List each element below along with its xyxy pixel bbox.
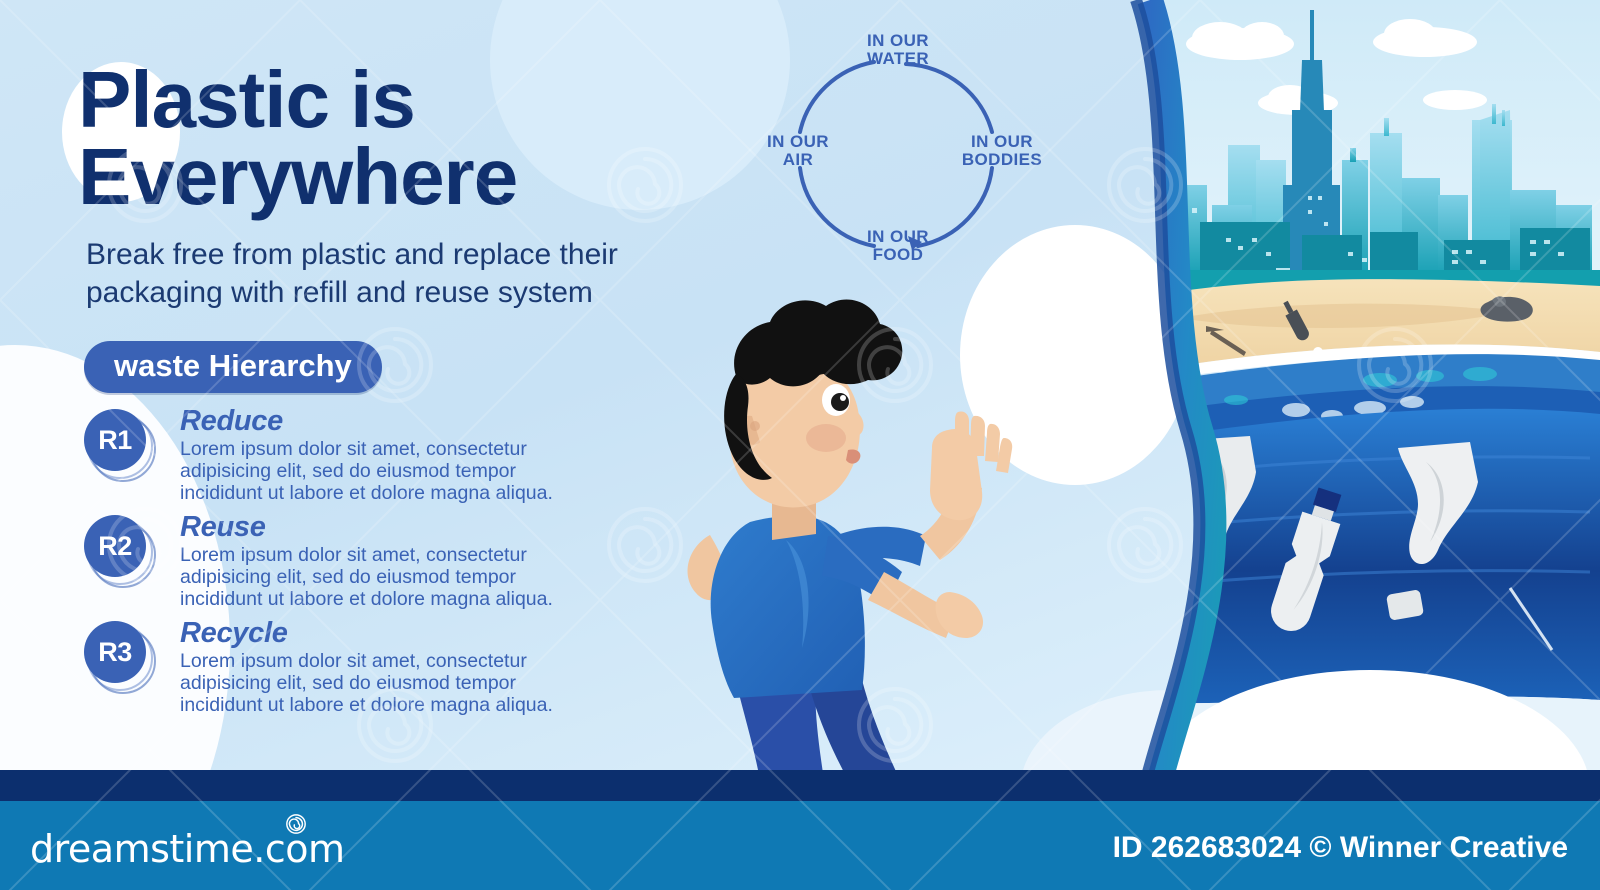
stock-site-footer: dreamstime.com ID 262683024 © Winner Cre… xyxy=(0,801,1600,890)
dreamstime-spiral-icon xyxy=(285,813,307,835)
boy-hand-raised xyxy=(930,411,1012,520)
headline-line-1: Plastic is xyxy=(78,62,517,139)
list-item: R3 Recycle Lorem ipsum dolor sit amet, c… xyxy=(84,617,604,721)
step-description: Lorem ipsum dolor sit amet, consectetur … xyxy=(180,648,580,717)
waste-hierarchy-list: R1 Reduce Lorem ipsum dolor sit amet, co… xyxy=(84,405,604,723)
step-title: Recycle xyxy=(180,617,604,648)
section-pill-waste-hierarchy: waste Hierarchy xyxy=(84,341,382,393)
list-item: R1 Reduce Lorem ipsum dolor sit amet, co… xyxy=(84,405,604,509)
cycle-label-air: IN OUR AIR xyxy=(718,133,878,169)
navy-divider-strip xyxy=(0,770,1600,801)
poster-canvas: Plastic is Everywhere Break free from pl… xyxy=(0,0,1600,890)
step-badge-r3: R3 xyxy=(84,621,154,691)
badge-label: R3 xyxy=(84,621,146,683)
step-badge-r2: R2 xyxy=(84,515,154,585)
page-title: Plastic is Everywhere xyxy=(78,62,517,216)
ocean-city-illustration xyxy=(1040,0,1600,780)
step-title: Reduce xyxy=(180,405,604,436)
badge-label: R2 xyxy=(84,515,146,577)
step-description: Lorem ipsum dolor sit amet, consectetur … xyxy=(180,436,580,505)
step-title: Reuse xyxy=(180,511,604,542)
step-badge-r1: R1 xyxy=(84,409,154,479)
list-item: R2 Reuse Lorem ipsum dolor sit amet, con… xyxy=(84,511,604,615)
boy-character-illustration xyxy=(640,290,1060,780)
image-credit: ID 262683024 © Winner Creative xyxy=(1113,831,1568,865)
step-description: Lorem ipsum dolor sit amet, consectetur … xyxy=(180,542,580,611)
cycle-label-water: IN OUR WATER xyxy=(818,32,978,68)
decorative-circle-top-right xyxy=(490,0,790,210)
headline-line-2: Everywhere xyxy=(78,139,517,216)
page-subtitle: Break free from plastic and replace thei… xyxy=(86,236,786,313)
plastic-cycle-diagram: IN OUR WATER IN OUR BODDIES IN OUR FOOD … xyxy=(746,28,1046,278)
boy-cheek xyxy=(806,424,846,452)
cycle-label-bodies: IN OUR BODDIES xyxy=(922,133,1082,169)
subtitle-line-2: packaging with refill and reuse system xyxy=(86,274,786,312)
boy-eye xyxy=(822,384,850,416)
badge-label: R1 xyxy=(84,409,146,471)
cycle-label-food: IN OUR FOOD xyxy=(818,228,978,264)
subtitle-line-1: Break free from plastic and replace thei… xyxy=(86,236,786,274)
